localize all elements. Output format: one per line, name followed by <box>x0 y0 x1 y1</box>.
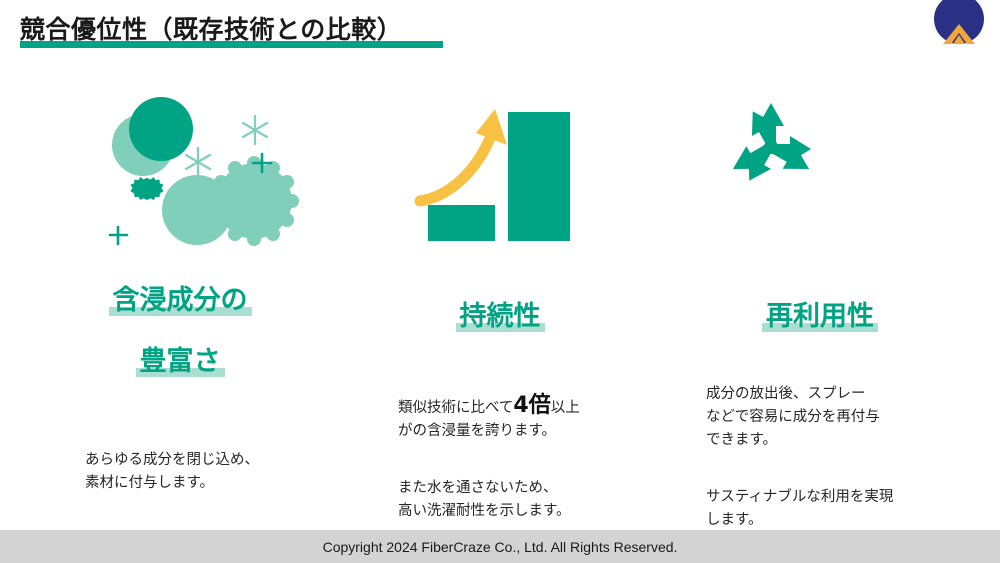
copyright-text: Copyright 2024 FiberCraze Co., Ltd. All … <box>323 539 678 555</box>
paragraph: また水を通さないため、 高い洗濯耐性を示します。 <box>398 477 638 523</box>
column-body-reusability: 成分の放出後、スプレー などで容易に成分を再付与 できます。 サスティナブルな利… <box>706 361 956 555</box>
column-heading-reusability: 再利用性 <box>670 271 970 333</box>
heading-line-2: 豊富さ <box>136 346 225 377</box>
feature-column-durability: 持続性 類似技術に比べて4倍以上 がの含浸量を誇ります。 また水を通さないため、… <box>350 88 650 508</box>
particles-icon <box>30 88 330 253</box>
feature-columns: 含浸成分の 豊富さ あらゆる成分を閉じ込め、 素材に付与します。 閉じ込めた成分… <box>0 88 1000 508</box>
column-heading-durability: 持続性 <box>350 271 650 333</box>
slide-root: 競合優位性（既存技術との比較） <box>0 0 1000 563</box>
multiplier-value: 4倍 <box>513 393 550 418</box>
paragraph: サスティナブルな利用を実現 します。 <box>706 486 956 532</box>
heading-line-1: 持続性 <box>456 301 545 332</box>
paragraph: 類似技術に比べて4倍以上 がの含浸量を誇ります。 <box>398 395 638 443</box>
footer-bar: Copyright 2024 FiberCraze Co., Ltd. All … <box>0 530 1000 563</box>
company-logo <box>930 0 988 52</box>
heading-line-1: 含浸成分の <box>109 285 252 316</box>
feature-column-impregnation: 含浸成分の 豊富さ あらゆる成分を閉じ込め、 素材に付与します。 閉じ込めた成分… <box>30 88 330 508</box>
paragraph: あらゆる成分を閉じ込め、 素材に付与します。 <box>85 449 315 495</box>
recycle-icon <box>670 88 970 253</box>
paragraph: 成分の放出後、スプレー などで容易に成分を再付与 できます。 <box>706 383 956 452</box>
paragraph-prefix: 類似技術に比べて <box>398 400 513 416</box>
title-underline-rule <box>20 41 443 48</box>
column-heading-impregnation: 含浸成分の 豊富さ <box>30 255 330 378</box>
column-body-durability: 類似技術に比べて4倍以上 がの含浸量を誇ります。 また水を通さないため、 高い洗… <box>398 373 638 546</box>
growth-chart-icon <box>350 88 650 253</box>
feature-column-reusability: 再利用性 成分の放出後、スプレー などで容易に成分を再付与 できます。 サスティ… <box>670 88 970 508</box>
heading-line-1: 再利用性 <box>762 301 878 332</box>
